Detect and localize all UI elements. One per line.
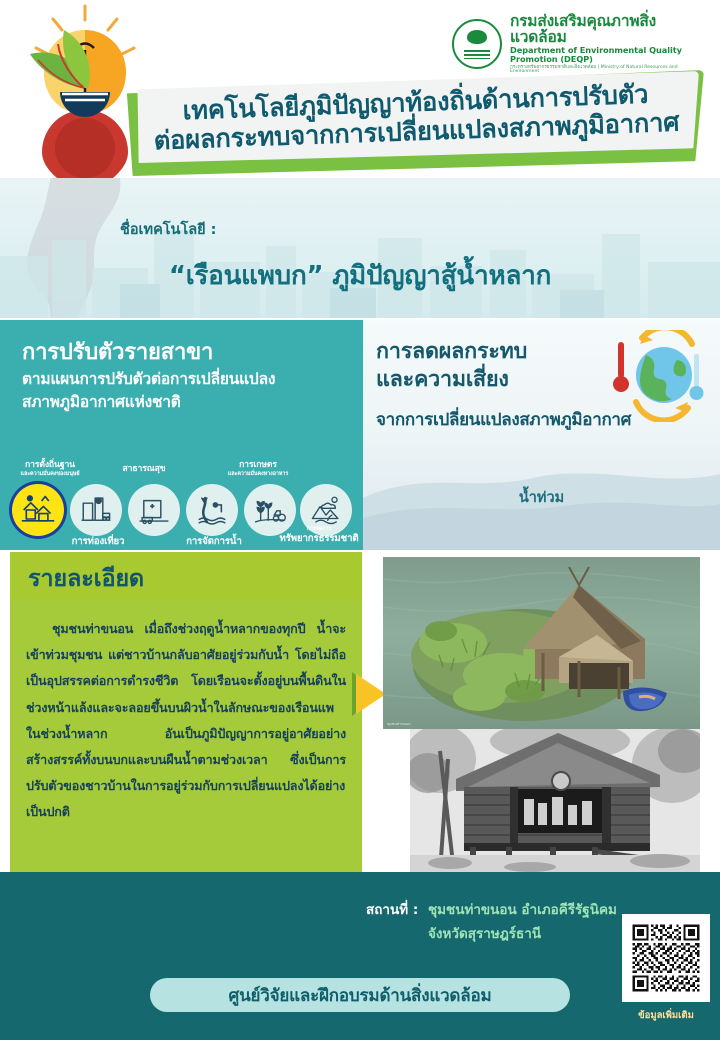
footer-pill[interactable]: ศูนย์วิจัยและฝึกอบรมด้านสิ่งแวดล้อม	[150, 978, 570, 1012]
sector-caption-water: การจัดการน้ำ	[166, 536, 262, 548]
sector-icon-settlement[interactable]	[12, 484, 64, 536]
natural-resource-mountain-icon	[309, 493, 343, 527]
old-wooden-stilt-house-photo	[410, 729, 700, 872]
tech-name-value: “เรือนแพบก” ภูมิปัญญาสู้น้ำหลาก	[0, 255, 720, 296]
sector-icon-water[interactable]	[186, 484, 238, 536]
water-management-tap-icon	[195, 493, 229, 527]
agriculture-wheat-tractor-icon	[253, 493, 287, 527]
sector-icon-tourism[interactable]	[70, 484, 122, 536]
sector-caption-health: สาธารณสุข	[94, 464, 194, 475]
org-name-th: กรมส่งเสริมคุณภาพสิ่งแวดล้อม	[510, 13, 708, 46]
public-health-hospital-icon	[137, 493, 171, 527]
tourism-city-car-icon	[79, 493, 113, 527]
sector-subheading: ตามแผนการปรับตัวต่อการเปลี่ยนแปลง สภาพภู…	[22, 368, 352, 415]
lightbulb-leaf-map-pin-icon	[10, 4, 160, 194]
settlement-houses-icon	[20, 492, 56, 528]
sector-heading: การปรับตัวรายสาขา	[22, 334, 213, 369]
sector-subheading-line2: สภาพภูมิอากาศแห่งชาติ	[22, 391, 352, 414]
sector-icon-health[interactable]	[128, 484, 180, 536]
qr-code-icon	[628, 920, 704, 996]
play-arrow-right-icon	[352, 668, 386, 720]
header-zone: กรมส่งเสริมคุณภาพสิ่งแวดล้อม Department …	[0, 0, 720, 178]
floating-house-illustration: ชุมชนท่าขนอน	[383, 557, 700, 729]
tech-name-label: ชื่อเทคโนโลยี :	[120, 218, 216, 241]
mitigation-heading: การลดผลกระทบ และความเสี่ยง	[376, 338, 616, 395]
poster-root: กรมส่งเสริมคุณภาพสิ่งแวดล้อม Department …	[0, 0, 720, 1040]
details-body: ชุมชนท่าขนอน เมื่อถึงช่วงฤดูน้ำหลากของทุ…	[26, 616, 346, 826]
org-name-en: Department of Environmental Quality Prom…	[510, 46, 708, 63]
globe-thermometer-icon	[596, 330, 704, 422]
sector-caption-natural-resources: การจัดการ ทรัพยากรธรรมชาติ	[276, 526, 362, 545]
deqp-logo: กรมส่งเสริมคุณภาพสิ่งแวดล้อม Department …	[452, 18, 708, 70]
location-label: สถานที่ :	[366, 898, 418, 920]
details-title: รายละเอียด	[28, 560, 144, 597]
title-banner: เทคโนโลยีภูมิปัญญาท้องถิ่นด้านการปรับตัว…	[124, 70, 704, 176]
sector-icon-band: การตั้งถิ่นฐาน และความมั่นคงของมนุษย์	[0, 458, 363, 550]
tech-name-band	[0, 178, 720, 318]
deqp-logo-text: กรมส่งเสริมคุณภาพสิ่งแวดล้อม Department …	[510, 13, 708, 75]
mitigation-panel: การลดผลกระทบ และความเสี่ยง จากการเปลี่ยน…	[363, 320, 720, 550]
location-value-line1: ชุมชนท่าขนอน อำเภอคีรีรัฐนิคม	[428, 898, 617, 920]
location-value-line2: จังหวัดสุราษฎร์ธานี	[428, 922, 541, 944]
floating-house-on-water-photo: ชุมชนท่าขนอน	[383, 557, 700, 729]
old-house-illustration	[410, 729, 700, 872]
location-panel-left	[0, 872, 363, 1040]
sector-caption-tourism: การท่องเที่ยว	[50, 536, 146, 548]
mitigation-heading-line2: และความเสี่ยง	[376, 366, 616, 394]
qr-caption: ข้อมูลเพิ่มเติม	[622, 1008, 710, 1023]
sector-adaptation-panel: การปรับตัวรายสาขา ตามแผนการปรับตัวต่อการ…	[0, 320, 363, 550]
qr-code-box[interactable]	[622, 914, 710, 1002]
sector-subheading-line1: ตามแผนการปรับตัวต่อการเปลี่ยนแปลง	[22, 368, 352, 391]
thermometer-red-icon	[613, 342, 629, 392]
sector-caption-settlement: การตั้งถิ่นฐาน และความมั่นคงของมนุษย์	[4, 460, 96, 477]
mitigation-risk-label: น้ำท่วม	[363, 486, 720, 509]
sector-caption-agriculture: การเกษตร และความมั่นคงทางอาหาร	[196, 460, 320, 477]
footer-text: ศูนย์วิจัยและฝึกอบรมด้านสิ่งแวดล้อม	[229, 982, 492, 1009]
mitigation-heading-line1: การลดผลกระทบ	[376, 338, 616, 366]
deqp-tree-seal-icon	[452, 19, 502, 69]
